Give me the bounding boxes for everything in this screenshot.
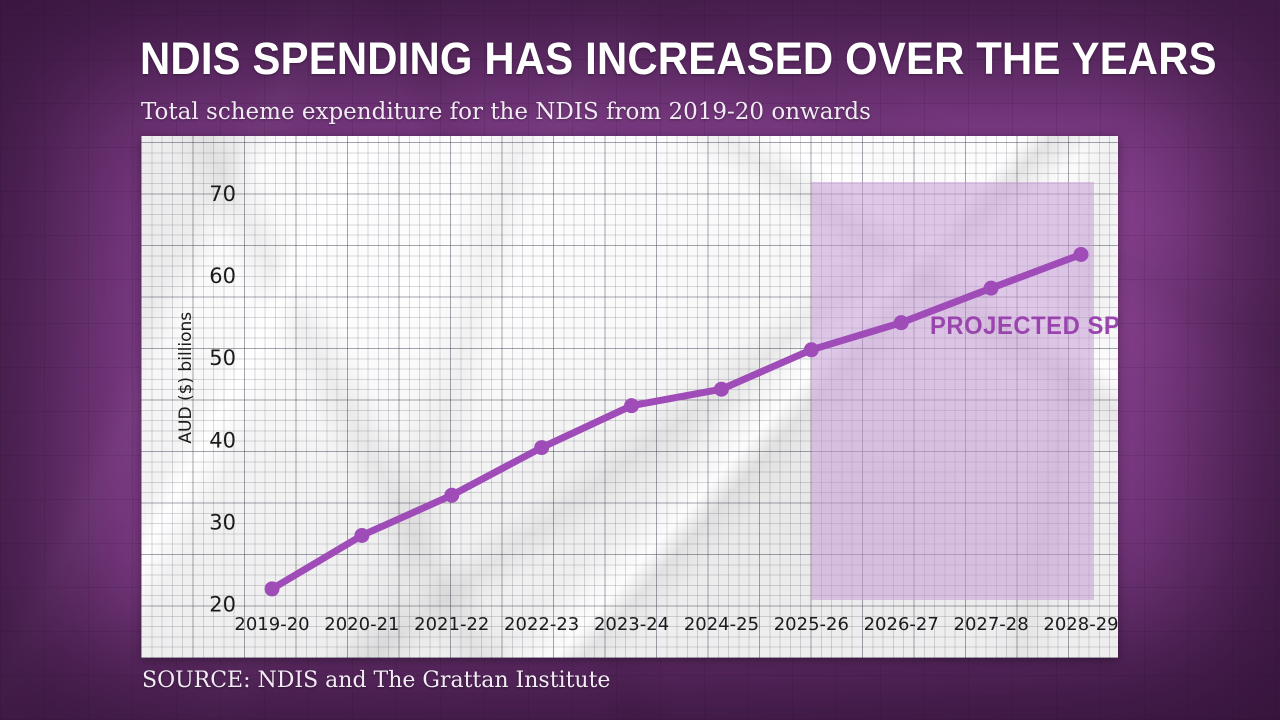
- x-axis-tick-labels: 2019-202020-212021-222022-232023-242024-…: [234, 614, 1118, 635]
- y-axis-tick-labels: 203040506070: [209, 182, 236, 617]
- svg-text:2025-26: 2025-26: [774, 614, 849, 635]
- svg-text:70: 70: [209, 182, 236, 206]
- svg-text:2024-25: 2024-25: [684, 614, 759, 635]
- svg-text:2026-27: 2026-27: [864, 614, 939, 635]
- svg-text:30: 30: [209, 511, 236, 535]
- chart-panel: 203040506070 2019-202020-212021-222022-2…: [141, 136, 1118, 658]
- y-axis-title: AUD ($) billions: [176, 312, 196, 444]
- svg-text:40: 40: [209, 428, 236, 452]
- svg-text:2022-23: 2022-23: [504, 614, 579, 635]
- svg-text:2027-28: 2027-28: [954, 614, 1029, 635]
- svg-text:AUD ($) billions: AUD ($) billions: [176, 312, 196, 444]
- svg-text:2019-20: 2019-20: [234, 614, 309, 635]
- svg-text:2020-21: 2020-21: [324, 614, 399, 635]
- page-subtitle: Total scheme expenditure for the NDIS fr…: [141, 98, 1141, 126]
- svg-text:60: 60: [209, 264, 236, 288]
- projected-spending-label: PROJECTED SPENDING: [930, 312, 1118, 341]
- line-chart-plot: 203040506070 2019-202020-212021-222022-2…: [141, 136, 1118, 658]
- svg-text:2023-24: 2023-24: [594, 614, 669, 635]
- svg-text:20: 20: [209, 593, 236, 617]
- page-title: NDIS SPENDING HAS INCREASED OVER THE YEA…: [140, 34, 1070, 84]
- projected-spending-band: [811, 182, 1094, 600]
- svg-text:2028-29: 2028-29: [1043, 614, 1118, 635]
- svg-text:50: 50: [209, 346, 236, 370]
- source-credit: SOURCE: NDIS and The Grattan Institute: [142, 668, 610, 693]
- svg-text:2021-22: 2021-22: [414, 614, 489, 635]
